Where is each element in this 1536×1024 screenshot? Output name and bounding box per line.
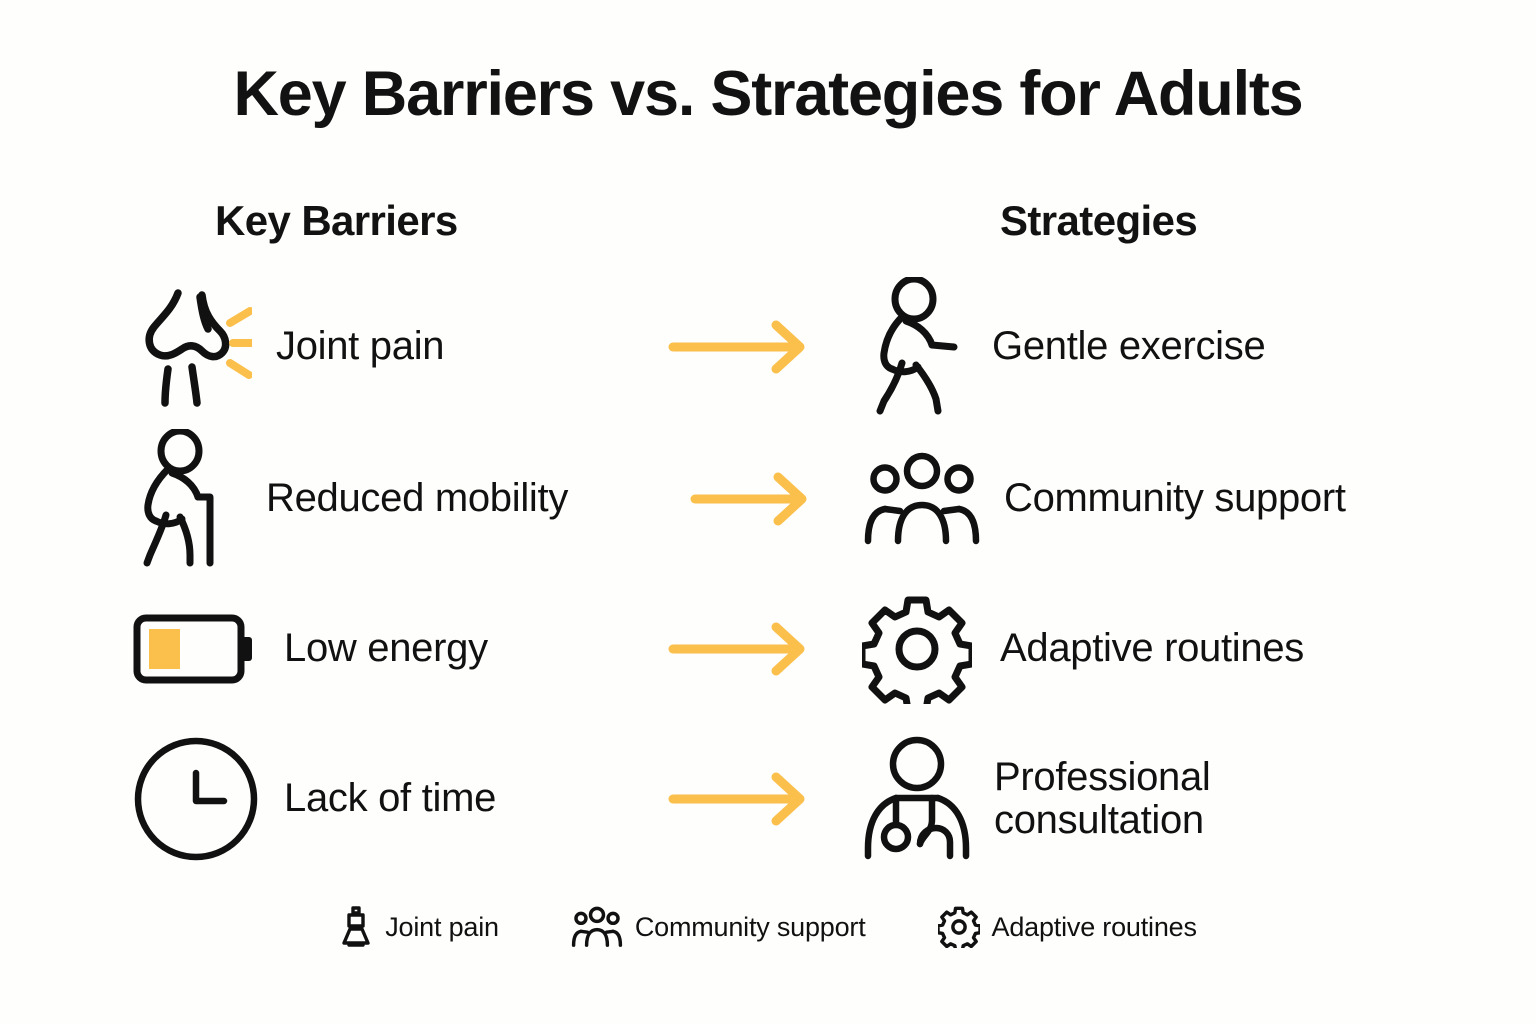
strategy-item-professional-consultation: Professional consultation bbox=[862, 724, 1324, 874]
person-with-cane-icon bbox=[132, 429, 236, 569]
comparison-row: Lack of time bbox=[0, 724, 1536, 874]
joint-pain-icon bbox=[132, 283, 252, 411]
strategy-item-gentle-exercise: Gentle exercise bbox=[862, 272, 1265, 422]
barrier-item-low-energy: Low energy bbox=[132, 574, 488, 724]
comparison-row: Joint pain bbox=[0, 272, 1536, 424]
gear-icon bbox=[862, 594, 972, 704]
legend-label: Adaptive routines bbox=[992, 912, 1197, 943]
barrier-item-reduced-mobility: Reduced mobility bbox=[132, 424, 568, 574]
arrow-right-icon bbox=[668, 574, 818, 724]
clock-icon bbox=[132, 735, 260, 863]
arrow-right-icon bbox=[690, 424, 820, 574]
group-of-people-icon bbox=[862, 449, 982, 549]
barrier-label: Joint pain bbox=[276, 325, 444, 368]
walking-person-icon bbox=[862, 277, 966, 417]
legend-item: Community support bbox=[571, 905, 866, 949]
barrier-item-joint-pain: Joint pain bbox=[132, 272, 444, 422]
legend-label: Joint pain bbox=[385, 912, 499, 943]
strategy-label: Adaptive routines bbox=[1000, 627, 1304, 670]
strategy-label: Gentle exercise bbox=[992, 325, 1265, 368]
group-of-people-icon bbox=[571, 905, 623, 949]
column-headers: Key Barriers Strategies bbox=[0, 197, 1536, 259]
barrier-label: Low energy bbox=[284, 627, 488, 670]
page-title: Key Barriers vs. Strategies for Adults bbox=[0, 58, 1536, 130]
column-header-barriers: Key Barriers bbox=[215, 197, 458, 245]
legend: Joint pain Community supp bbox=[0, 905, 1536, 949]
legend-label: Community support bbox=[635, 912, 866, 943]
column-header-strategies: Strategies bbox=[1000, 197, 1197, 245]
doctor-stethoscope-icon bbox=[862, 736, 972, 862]
strategy-item-adaptive-routines: Adaptive routines bbox=[862, 574, 1304, 724]
strategy-label: Community support bbox=[1004, 477, 1346, 520]
arrow-right-icon bbox=[668, 272, 818, 422]
gear-icon bbox=[938, 906, 980, 948]
legend-item: Joint pain bbox=[339, 905, 499, 949]
low-battery-icon bbox=[132, 606, 258, 692]
arrow-right-icon bbox=[668, 724, 818, 874]
legend-item: Adaptive routines bbox=[938, 906, 1197, 948]
strategy-item-community-support: Community support bbox=[862, 424, 1346, 574]
barrier-label: Lack of time bbox=[284, 777, 496, 820]
barrier-item-lack-of-time: Lack of time bbox=[132, 724, 496, 874]
comparison-row: Reduced mobility bbox=[0, 424, 1536, 574]
comparison-row: Low energy bbox=[0, 574, 1536, 724]
infographic-canvas: Key Barriers vs. Strategies for Adults K… bbox=[0, 0, 1536, 1024]
comparison-rows: Joint pain bbox=[0, 272, 1536, 874]
strategy-label: Professional consultation bbox=[994, 756, 1324, 842]
bone-joint-icon bbox=[339, 905, 373, 949]
barrier-label: Reduced mobility bbox=[266, 477, 568, 520]
